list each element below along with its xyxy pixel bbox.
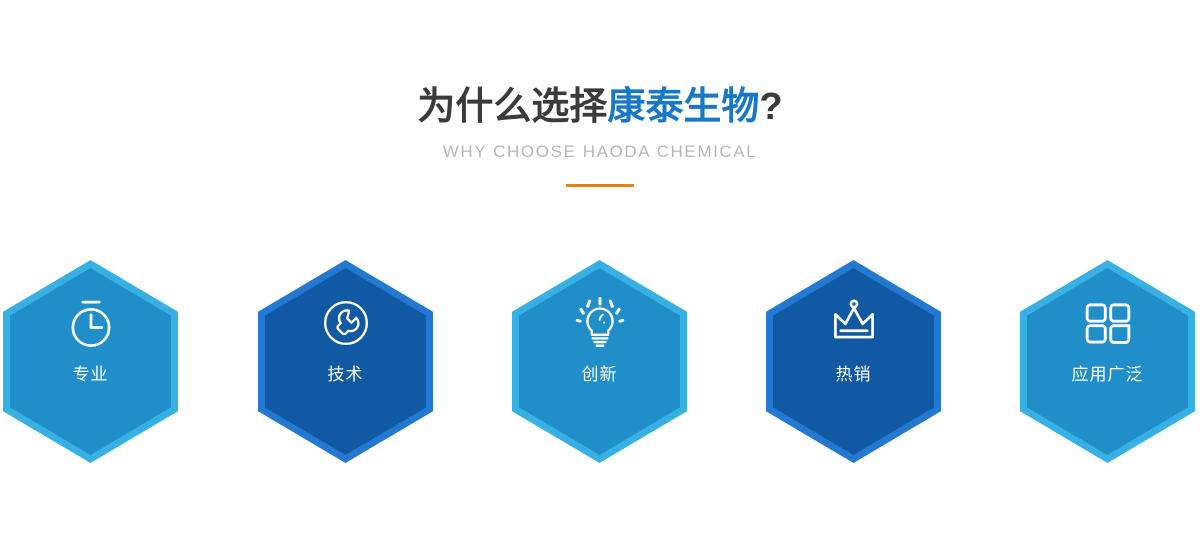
wrench-circle-icon [317,294,375,352]
feature-hexagon-technology[interactable]: 技术 [258,260,433,463]
feature-hexagon-innovation[interactable]: 创新 [512,260,687,463]
feature-label: 专业 [73,366,109,383]
feature-label: 热销 [836,366,872,383]
page-title-question-mark: ? [759,86,782,128]
lightbulb-icon [571,294,629,352]
grid-squares-icon [1079,294,1137,352]
hexagon-content: 创新 [512,260,687,463]
feature-hexagon-professional[interactable]: 专业 [3,260,178,463]
hexagon-content: 热销 [766,260,941,463]
stopwatch-icon [62,294,120,352]
page-title-brand: 康泰生物 [607,86,759,128]
crown-icon [825,294,883,352]
page-subtitle: WHY CHOOSE HAODA CHEMICAL [0,126,1200,162]
feature-label: 应用广泛 [1072,366,1144,383]
page-title: 为什么选择康泰生物? [0,0,1200,126]
feature-hexagon-best-seller[interactable]: 热销 [766,260,941,463]
section-header: 为什么选择康泰生物? WHY CHOOSE HAODA CHEMICAL [0,0,1200,187]
orange-divider [566,184,634,187]
page-title-prefix: 为什么选择 [417,86,607,128]
hexagon-content: 专业 [3,260,178,463]
hexagon-content: 技术 [258,260,433,463]
feature-hexagon-row: 专业 技术 [0,260,1200,470]
feature-label: 创新 [582,366,618,383]
divider-wrapper [0,162,1200,187]
feature-label: 技术 [328,366,364,383]
feature-hexagon-wide-application[interactable]: 应用广泛 [1020,260,1195,463]
hexagon-content: 应用广泛 [1020,260,1195,463]
